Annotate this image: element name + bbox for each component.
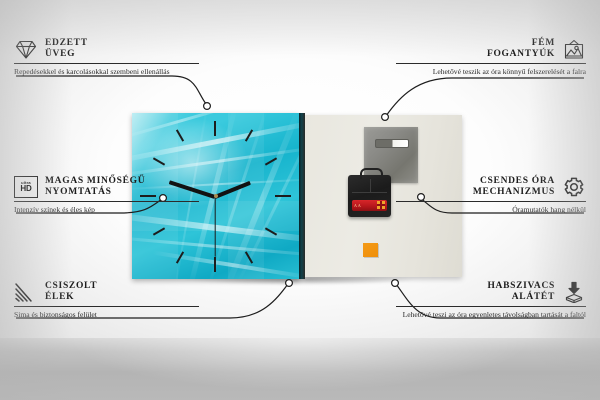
callout-divider bbox=[396, 306, 586, 307]
hanger-slot bbox=[375, 139, 409, 148]
foam-pad bbox=[363, 243, 378, 257]
callout-title-line2: ÜVEG bbox=[45, 49, 88, 60]
callout-divider bbox=[14, 306, 199, 307]
callout-metal-hangers: FÉM FOGANTYÚK Lehetővé teszik az óra kön… bbox=[396, 38, 586, 76]
callout-title-line1: EDZETT bbox=[45, 38, 88, 49]
callout-high-quality-print: ultra HD MAGAS MINŐSÉGŰ NYOMTATÁS Intenz… bbox=[14, 176, 199, 214]
floor-reflection bbox=[0, 338, 600, 400]
callout-divider bbox=[396, 63, 586, 64]
callout-subtitle: Repedésekkel és karcolásokkal szembeni e… bbox=[14, 67, 199, 77]
ultra-hd-icon-main-text: HD bbox=[20, 185, 31, 193]
callout-title-line2: ALÁTÉT bbox=[512, 292, 555, 303]
press-pad-icon bbox=[562, 281, 586, 303]
second-hand bbox=[214, 197, 215, 257]
diamond-icon bbox=[14, 38, 38, 60]
battery-label: AA bbox=[354, 203, 362, 208]
callout-subtitle: Óramutatók hang nélkül bbox=[396, 205, 586, 215]
hanging-frame-icon bbox=[562, 38, 586, 60]
callout-tempered-glass: EDZETT ÜVEG Repedésekkel és karcolásokka… bbox=[14, 38, 199, 76]
mechanism-hanger-loop-icon bbox=[360, 168, 383, 179]
callout-divider bbox=[14, 201, 199, 202]
callout-title-line1: HABSZIVACS bbox=[487, 281, 555, 292]
callout-subtitle: Lehetővé teszik az óra könnyű felszerelé… bbox=[396, 67, 586, 77]
mechanism-seam-vertical bbox=[370, 179, 371, 193]
battery-plus-icon bbox=[377, 201, 385, 209]
callout-divider bbox=[14, 63, 199, 64]
callout-title-line2: MECHANIZMUS bbox=[473, 187, 555, 198]
callout-title-line1: CSENDES ÓRA bbox=[480, 176, 555, 187]
callout-subtitle: Sima és biztonságos felület bbox=[14, 310, 199, 320]
callout-subtitle: Intenzív színek és éles kép bbox=[14, 205, 199, 215]
callout-title-line2: NYOMTATÁS bbox=[45, 187, 145, 198]
callout-title-line2: FOGANTYÚK bbox=[487, 49, 555, 60]
callout-silent-mechanism: CSENDES ÓRA MECHANIZMUS Óramutatók hang … bbox=[396, 176, 586, 214]
clock-mechanism: AA bbox=[348, 175, 391, 217]
clock-edge bbox=[299, 113, 305, 279]
callout-title-line1: CSISZOLT bbox=[45, 281, 97, 292]
callout-divider bbox=[396, 201, 586, 202]
callout-polished-edges: CSISZOLT ÉLEK Sima és biztonságos felüle… bbox=[14, 281, 199, 319]
callout-title-line1: FÉM bbox=[532, 38, 555, 49]
callout-subtitle: Lehetővé teszi az óra egyenletes távolsá… bbox=[396, 310, 586, 320]
diagonal-lines-icon bbox=[14, 281, 38, 303]
callout-foam-pad: HABSZIVACS ALÁTÉT Lehetővé teszi az óra … bbox=[396, 281, 586, 319]
callout-title-line2: ÉLEK bbox=[45, 292, 97, 303]
ultra-hd-icon: ultra HD bbox=[14, 176, 38, 198]
hands-center-cap bbox=[214, 194, 218, 198]
callout-title-line1: MAGAS MINŐSÉGŰ bbox=[45, 176, 145, 187]
product-infographic: AA bbox=[0, 0, 600, 400]
battery: AA bbox=[352, 200, 387, 211]
gear-icon bbox=[562, 176, 586, 198]
